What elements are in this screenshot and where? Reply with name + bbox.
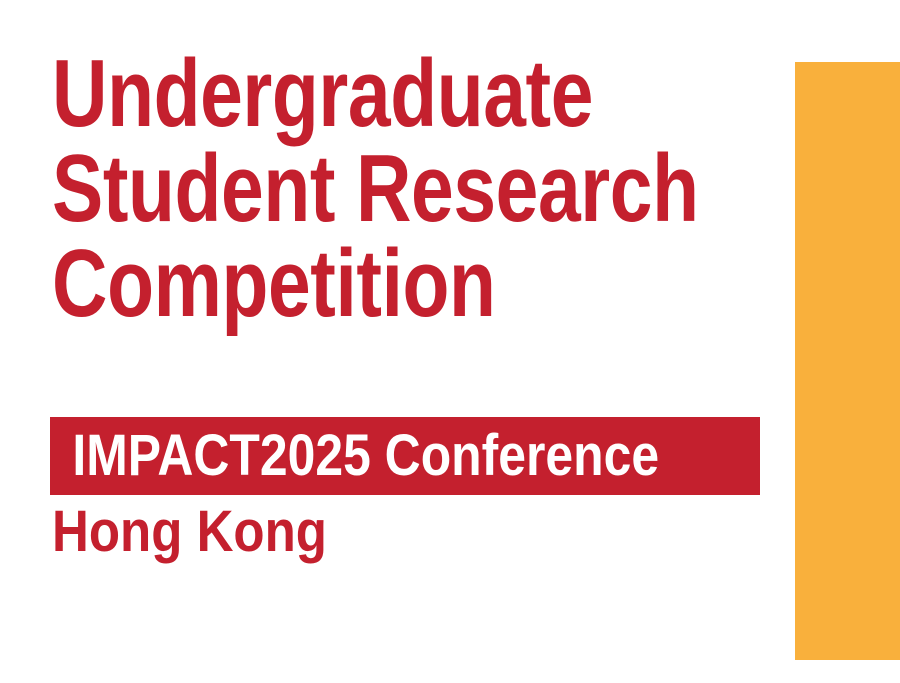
page-title: Undergraduate Student Research Competiti… xyxy=(52,46,782,331)
conference-poster: Undergraduate Student Research Competiti… xyxy=(0,0,900,683)
location-label: Hong Kong xyxy=(52,502,327,563)
orange-accent-bar xyxy=(795,62,900,660)
headline-line-3: Competition xyxy=(52,236,636,331)
footer-logo-strip: Organised by THE HONG KONG POLYTECHNIC U… xyxy=(0,596,795,683)
conference-banner: IMPACT2025 Conference xyxy=(50,417,760,495)
headline-line-2: Student Research xyxy=(52,141,636,236)
headline-line-1: Undergraduate xyxy=(52,46,636,141)
conference-banner-label: IMPACT2025 Conference xyxy=(50,427,659,485)
